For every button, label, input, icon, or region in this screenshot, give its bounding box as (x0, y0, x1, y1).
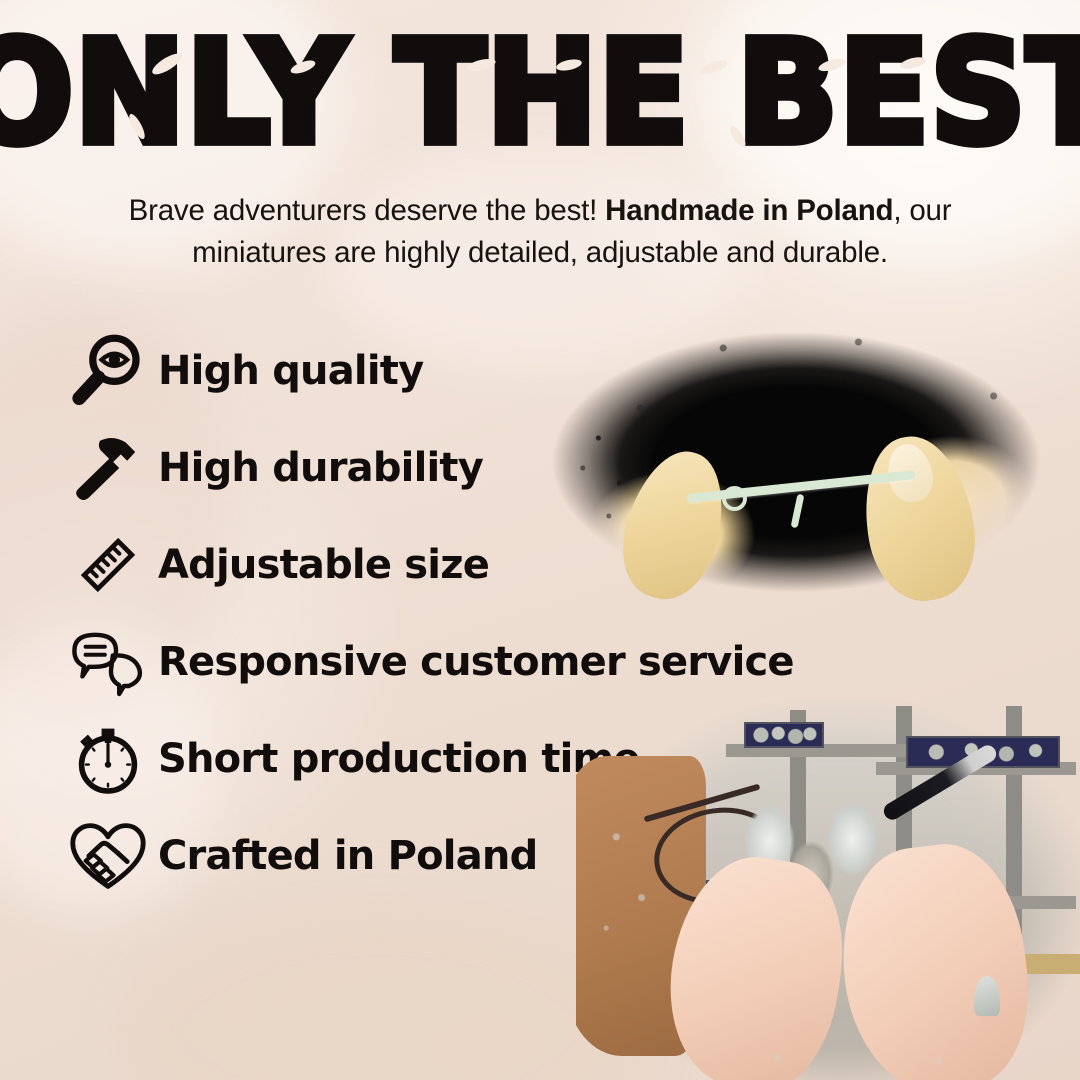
workshop-hands-photo (576, 700, 1080, 1080)
magnifier-eye-icon (62, 325, 154, 417)
feature-label: High durability (158, 445, 483, 491)
miniature-part (686, 468, 916, 520)
subtitle: Brave adventurers deserve the best! Hand… (90, 190, 990, 274)
background-wash (120, 900, 640, 1080)
poster-canvas: ONLY THE BEST Brave adventurers deserve … (0, 0, 1080, 1080)
photo-torn-edge (576, 700, 1080, 1080)
title-block: ONLY THE BEST (0, 36, 1080, 152)
ruler-icon (62, 519, 154, 611)
feature-label: Short production time (158, 736, 640, 782)
hammer-icon (62, 422, 154, 514)
chat-bubbles-icon (62, 616, 154, 708)
feature-label: Responsive customer service (158, 639, 794, 685)
page-title: ONLY THE BEST (0, 23, 1080, 165)
feature-label: Crafted in Poland (158, 833, 537, 879)
feature-label: Adjustable size (158, 542, 489, 588)
subtitle-lead: Brave adventurers deserve the best! (129, 194, 598, 227)
flexible-miniature-photo (536, 318, 1056, 618)
subtitle-bold: Handmade in Poland (605, 194, 893, 227)
feature-row-responsive-customer-service: Responsive customer service (62, 613, 822, 710)
miniature-ring (722, 486, 747, 511)
stopwatch-icon (62, 713, 154, 805)
handshake-heart-icon (62, 810, 154, 902)
feature-label: High quality (158, 348, 423, 394)
